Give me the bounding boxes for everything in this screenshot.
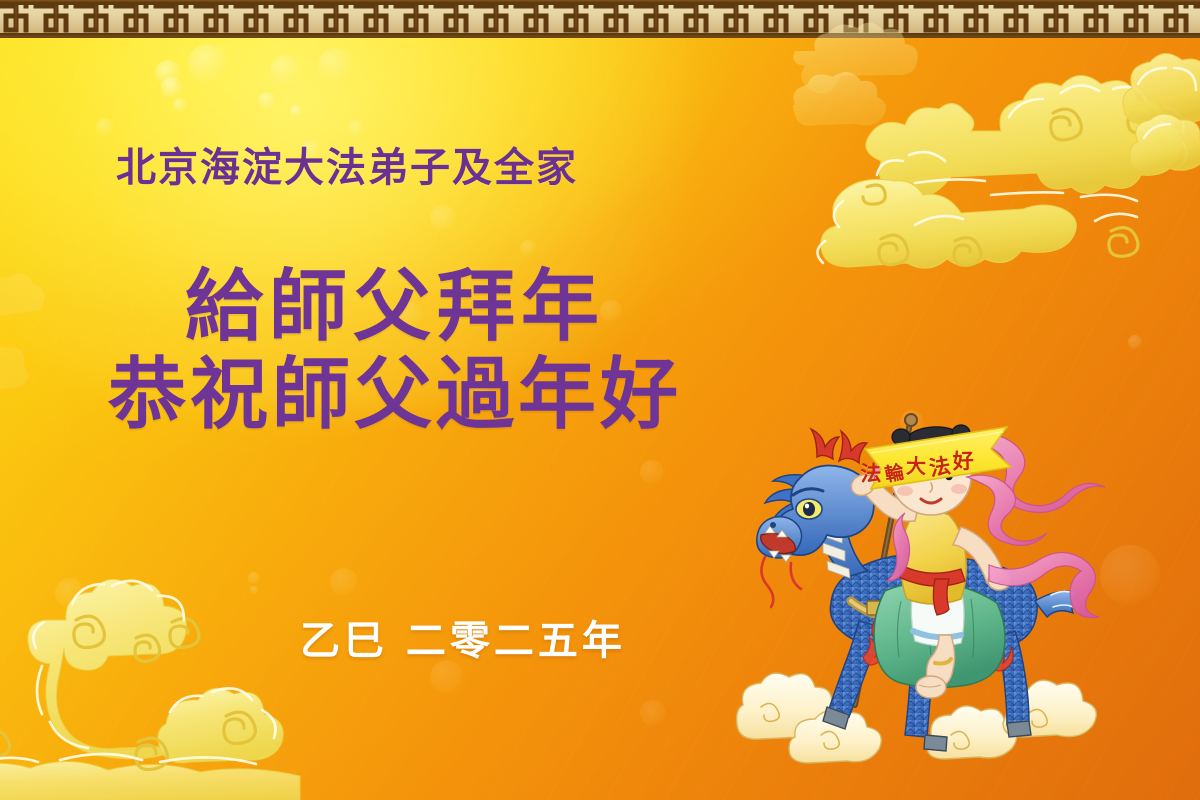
bokeh-dot (258, 92, 276, 110)
bokeh-dot (188, 44, 228, 84)
bokeh-dot (55, 578, 85, 608)
bokeh-dot (348, 120, 364, 136)
child-riding-dragon-artwork (735, 405, 1130, 800)
cloud-motif-bottom-left (0, 560, 300, 800)
bokeh-dot (520, 240, 536, 256)
bokeh-dot (330, 568, 358, 596)
bokeh-dot (270, 55, 300, 85)
bokeh-dot (161, 77, 183, 99)
bokeh-dot (96, 118, 114, 136)
bokeh-dot (430, 205, 456, 231)
bokeh-dot (640, 700, 666, 726)
cloud-motif-right-edge (1118, 58, 1200, 178)
greeting-text: 給師父拜年 恭祝師父過年好 (0, 263, 790, 439)
cloud-motif-top-right (795, 45, 1200, 320)
date-line: 乙巳 二零二五年 (300, 608, 626, 666)
bokeh-dot (640, 460, 664, 484)
signature-line: 北京海淀大法弟子及全家 (116, 135, 578, 193)
bokeh-dot (250, 586, 258, 594)
greeting-card: 北京海淀大法弟子及全家 給師父拜年 恭祝師父過年好 乙巳 二零二五年 (0, 0, 1200, 800)
bokeh-dot (173, 98, 187, 112)
bokeh-dot (318, 48, 352, 82)
bokeh-dot (1128, 335, 1142, 349)
bokeh-dot (248, 572, 260, 584)
greek-key-border (0, 0, 1200, 38)
greeting-line-2: 恭祝師父過年好 (0, 351, 790, 439)
bokeh-dot (155, 60, 181, 86)
bokeh-dot (290, 105, 302, 117)
greeting-line-1: 給師父拜年 (0, 263, 790, 351)
